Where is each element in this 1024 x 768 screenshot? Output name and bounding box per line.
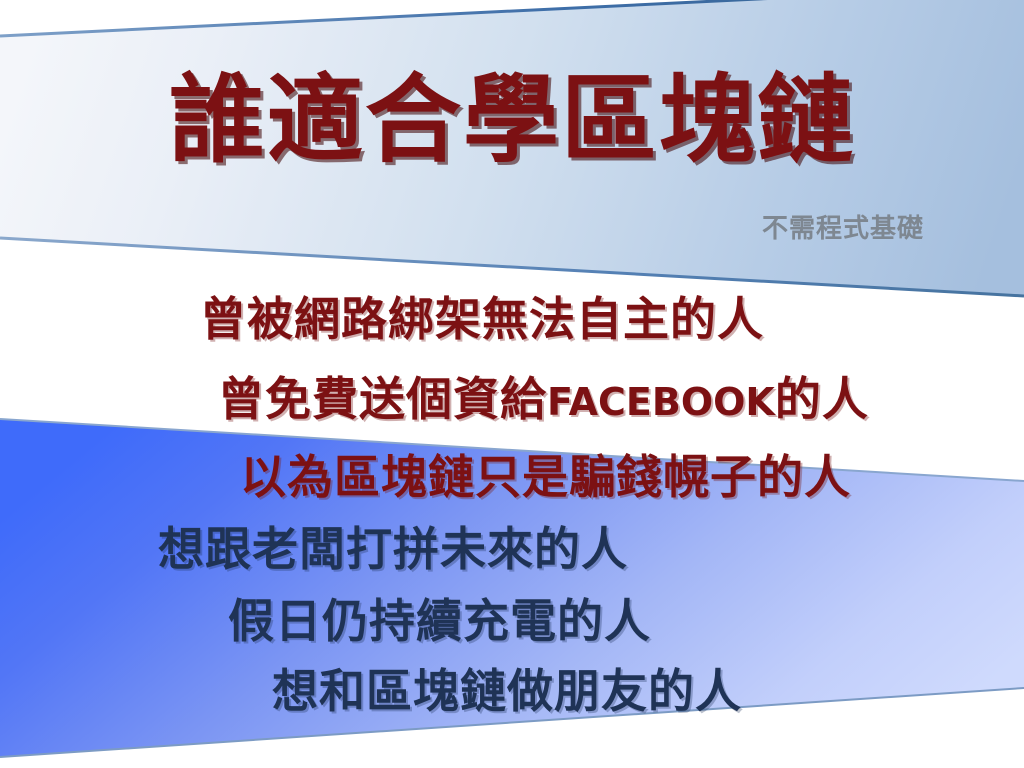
bullet-line-6-text: 想和區塊鏈做朋友的人 — [272, 664, 742, 718]
bullet-line-1-text: 曾被網路綁架無法自主的人 — [200, 292, 764, 346]
bullet-line-5-text: 假日仍持續充電的人 — [228, 594, 651, 648]
slide-canvas: 誰適合學區塊鏈 不需程式基礎 曾被網路綁架無法自主的人 曾免費送個資給FACEB… — [0, 0, 1024, 768]
bullet-line-5: 假日仍持續充電的人 — [0, 596, 1024, 647]
bullet-line-3: 以為區塊鏈只是騙錢幌子的人 — [0, 452, 1024, 503]
slide-content: 誰適合學區塊鏈 不需程式基礎 曾被網路綁架無法自主的人 曾免費送個資給FACEB… — [0, 0, 1024, 768]
bullet-line-4-text: 想跟老闆打拼未來的人 — [158, 522, 628, 576]
slide-title: 誰適合學區塊鏈 — [0, 70, 1024, 171]
bullet-line-2-text-tail: 的人 — [775, 372, 869, 426]
slide-subtitle: 不需程式基礎 — [0, 208, 1024, 245]
bullet-line-4: 想跟老闆打拼未來的人 — [0, 524, 1024, 575]
bullet-line-2: 曾免費送個資給FACEBOOK的人 — [0, 374, 1024, 425]
bullet-line-3-text: 以為區塊鏈只是騙錢幌子的人 — [240, 450, 851, 504]
bullet-line-2-text: 曾免費送個資給 — [218, 372, 547, 426]
bullet-line-6: 想和區塊鏈做朋友的人 — [0, 666, 1024, 717]
bullet-line-2-emphasis: FACEBOOK — [547, 380, 775, 424]
bullet-line-1: 曾被網路綁架無法自主的人 — [0, 294, 1024, 345]
